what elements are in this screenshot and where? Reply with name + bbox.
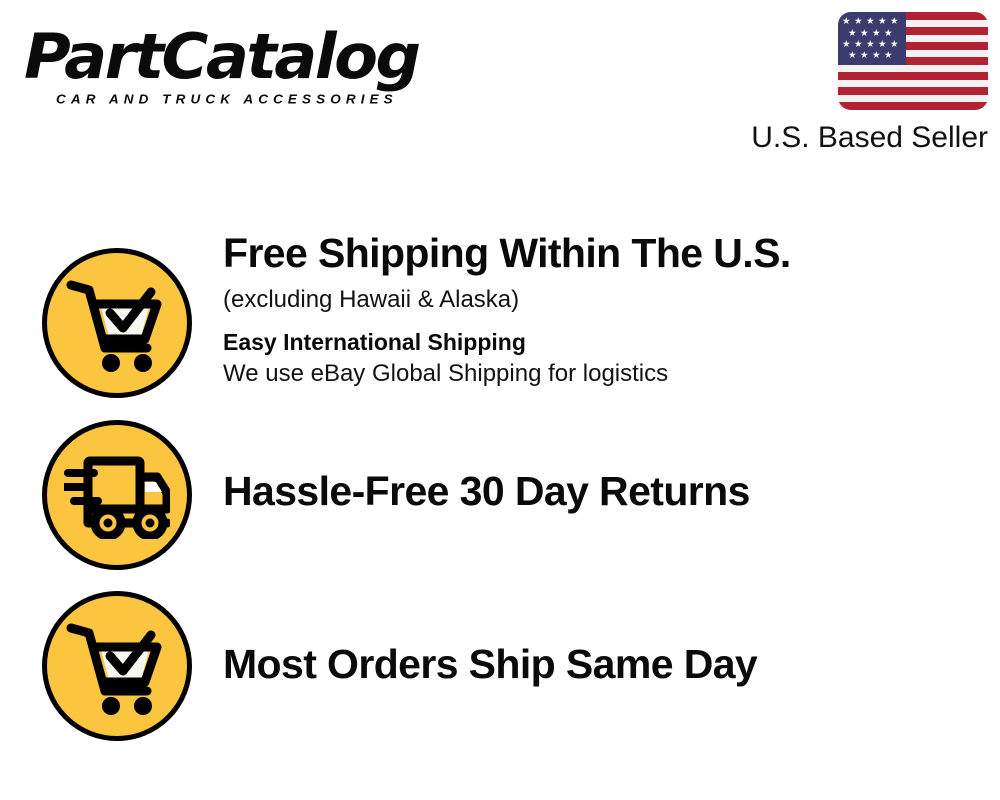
flag-star-icon: ★ bbox=[854, 40, 863, 50]
flag-star-icon: ★ bbox=[842, 40, 851, 50]
feature-title: Free Shipping Within The U.S. bbox=[223, 230, 983, 277]
flag-star-icon: ★ bbox=[842, 17, 851, 27]
us-based-seller-badge: ★ ★ ★ ★ ★ ★ ★ ★ ★ ★ ★ ★ ★ ★ ★ ★ ★ ★ U.S.… bbox=[718, 12, 988, 155]
feature-text-same-day: Most Orders Ship Same Day bbox=[223, 641, 983, 688]
feature-text-returns: Hassle-Free 30 Day Returns bbox=[223, 468, 983, 515]
flag-stripe bbox=[838, 80, 988, 88]
page-header: PartCatalog CAR AND TRUCK ACCESSORIES ★ … bbox=[0, 0, 1000, 175]
feature-note: (excluding Hawaii & Alaska) bbox=[223, 285, 983, 315]
flag-star-icon: ★ bbox=[872, 51, 881, 61]
flag-star-icon: ★ bbox=[860, 51, 869, 61]
flag-star-icon: ★ bbox=[860, 29, 869, 39]
flag-stripe bbox=[838, 95, 988, 103]
seller-label: U.S. Based Seller bbox=[718, 121, 988, 155]
flag-star-icon: ★ bbox=[890, 17, 899, 27]
flag-star-icon: ★ bbox=[884, 51, 893, 61]
feature-title: Hassle-Free 30 Day Returns bbox=[223, 468, 983, 515]
feature-subnote: We use eBay Global Shipping for logistic… bbox=[223, 359, 983, 389]
feature-text-free-shipping: Free Shipping Within The U.S. (excluding… bbox=[223, 230, 983, 389]
brand-logo[interactable]: PartCatalog CAR AND TRUCK ACCESSORIES bbox=[24, 24, 494, 107]
flag-star-icon: ★ bbox=[878, 17, 887, 27]
flag-star-icon: ★ bbox=[866, 17, 875, 27]
brand-tagline: CAR AND TRUCK ACCESSORIES bbox=[56, 92, 494, 106]
flag-star-icon: ★ bbox=[866, 40, 875, 50]
flag-star-icon: ★ bbox=[848, 29, 857, 39]
brand-wordmark: PartCatalog bbox=[24, 24, 508, 90]
feature-subtitle: Easy International Shipping bbox=[223, 328, 983, 357]
delivery-truck-icon bbox=[42, 420, 192, 570]
flag-stripe bbox=[838, 72, 988, 80]
flag-star-icon: ★ bbox=[884, 29, 893, 39]
flag-star-icon: ★ bbox=[854, 17, 863, 27]
flag-stripe bbox=[838, 102, 988, 110]
flag-stripe bbox=[838, 65, 988, 73]
flag-star-icon: ★ bbox=[872, 29, 881, 39]
flag-star-icon: ★ bbox=[848, 51, 857, 61]
us-flag-icon: ★ ★ ★ ★ ★ ★ ★ ★ ★ ★ ★ ★ ★ ★ ★ ★ ★ ★ bbox=[838, 12, 988, 110]
flag-star-icon: ★ bbox=[878, 40, 887, 50]
shopping-cart-check-icon bbox=[42, 248, 192, 398]
flag-stripe bbox=[838, 87, 988, 95]
shopping-cart-check-icon bbox=[42, 591, 192, 741]
flag-star-icon: ★ bbox=[890, 40, 899, 50]
feature-title: Most Orders Ship Same Day bbox=[223, 641, 983, 688]
